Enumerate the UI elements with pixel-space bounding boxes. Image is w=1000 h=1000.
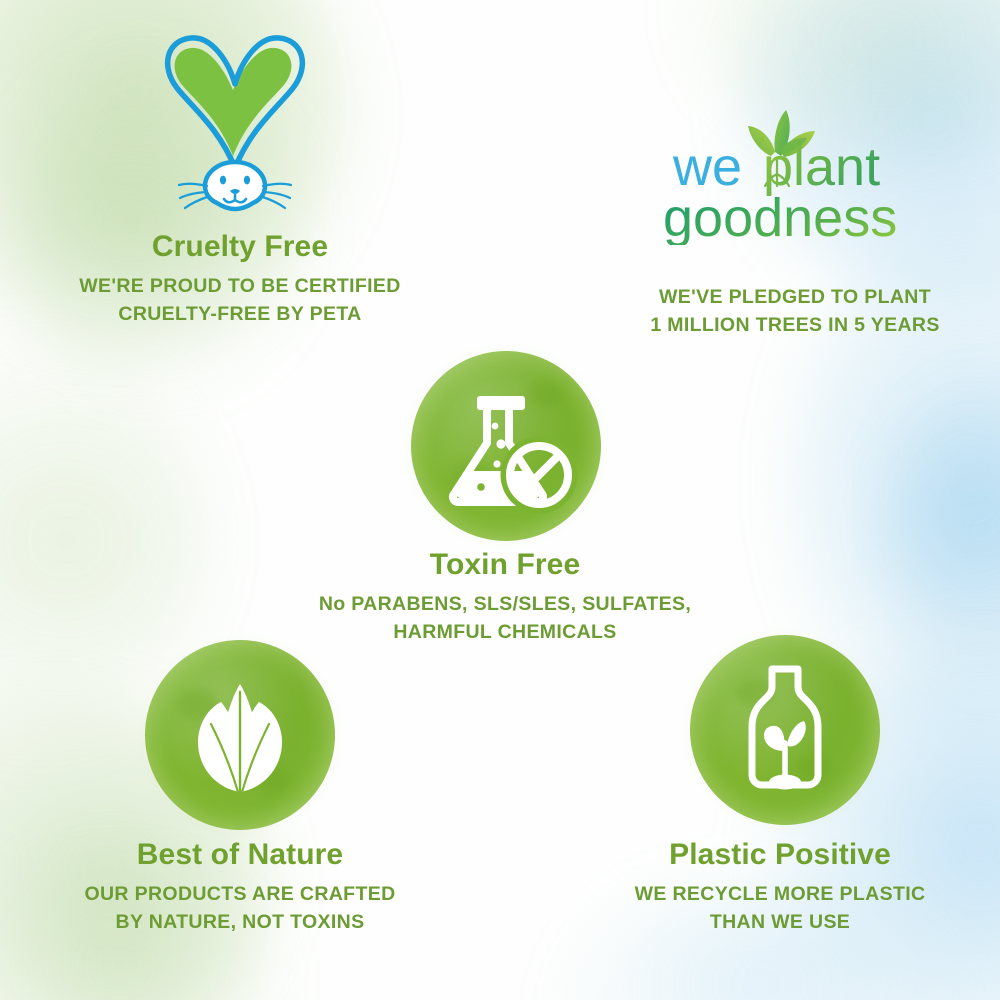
- logo-word-goodness: goodness: [663, 188, 897, 245]
- badge-desc-cruelty-free: WE'RE PROUD TO BE CERTIFIED CRUELTY-FREE…: [35, 273, 445, 328]
- badge-we-plant-goodness: WE'VE PLEDGED TO PLANT 1 MILLION TREES I…: [590, 284, 1000, 339]
- badge-desc-line: WE'VE PLEDGED TO PLANT: [590, 284, 1000, 312]
- bottle-sprout-icon: [690, 635, 880, 825]
- we-plant-goodness-logo: we plant goodness: [655, 100, 945, 245]
- badge-cruelty-free: Cruelty Free WE'RE PROUD TO BE CERTIFIED…: [35, 230, 445, 328]
- plastic-positive-icon-circle: [690, 635, 880, 825]
- badge-desc-line: No PARABENS, SLS/SLES, SULFATES,: [255, 591, 755, 619]
- badge-desc-best-of-nature: OUR PRODUCTS ARE CRAFTED BY NATURE, NOT …: [20, 881, 460, 936]
- badge-plastic-positive: Plastic Positive WE RECYCLE MORE PLASTIC…: [560, 838, 1000, 936]
- badge-title-toxin-free: Toxin Free: [255, 548, 755, 581]
- badge-desc-toxin-free: No PARABENS, SLS/SLES, SULFATES, HARMFUL…: [255, 591, 755, 646]
- brand-values-infographic: Cruelty Free WE'RE PROUD TO BE CERTIFIED…: [0, 0, 1000, 1000]
- three-leaves-icon: [145, 640, 335, 830]
- badge-toxin-free: Toxin Free No PARABENS, SLS/SLES, SULFAT…: [255, 548, 755, 646]
- best-of-nature-icon-circle: [145, 640, 335, 830]
- badge-desc-line: WE RECYCLE MORE PLASTIC: [560, 881, 1000, 909]
- toxin-free-icon-circle: [411, 351, 601, 541]
- badge-desc-line: OUR PRODUCTS ARE CRAFTED: [20, 881, 460, 909]
- badge-desc-line: 1 MILLION TREES IN 5 YEARS: [590, 312, 1000, 340]
- badge-desc-we-plant-goodness: WE'VE PLEDGED TO PLANT 1 MILLION TREES I…: [590, 284, 1000, 339]
- badge-title-best-of-nature: Best of Nature: [20, 838, 460, 871]
- peta-bunny-icon: [155, 28, 315, 213]
- badge-desc-line: CRUELTY-FREE BY PETA: [35, 301, 445, 329]
- badge-desc-line: BY NATURE, NOT TOXINS: [20, 909, 460, 937]
- badge-desc-plastic-positive: WE RECYCLE MORE PLASTIC THAN WE USE: [560, 881, 1000, 936]
- badge-best-of-nature: Best of Nature OUR PRODUCTS ARE CRAFTED …: [20, 838, 460, 936]
- badge-desc-line: WE'RE PROUD TO BE CERTIFIED: [35, 273, 445, 301]
- flask-no-toxins-icon: [411, 351, 601, 541]
- badge-title-plastic-positive: Plastic Positive: [560, 838, 1000, 871]
- badge-desc-line: THAN WE USE: [560, 909, 1000, 937]
- badge-title-cruelty-free: Cruelty Free: [35, 230, 445, 263]
- blue-wash-middle-right: [880, 380, 1000, 680]
